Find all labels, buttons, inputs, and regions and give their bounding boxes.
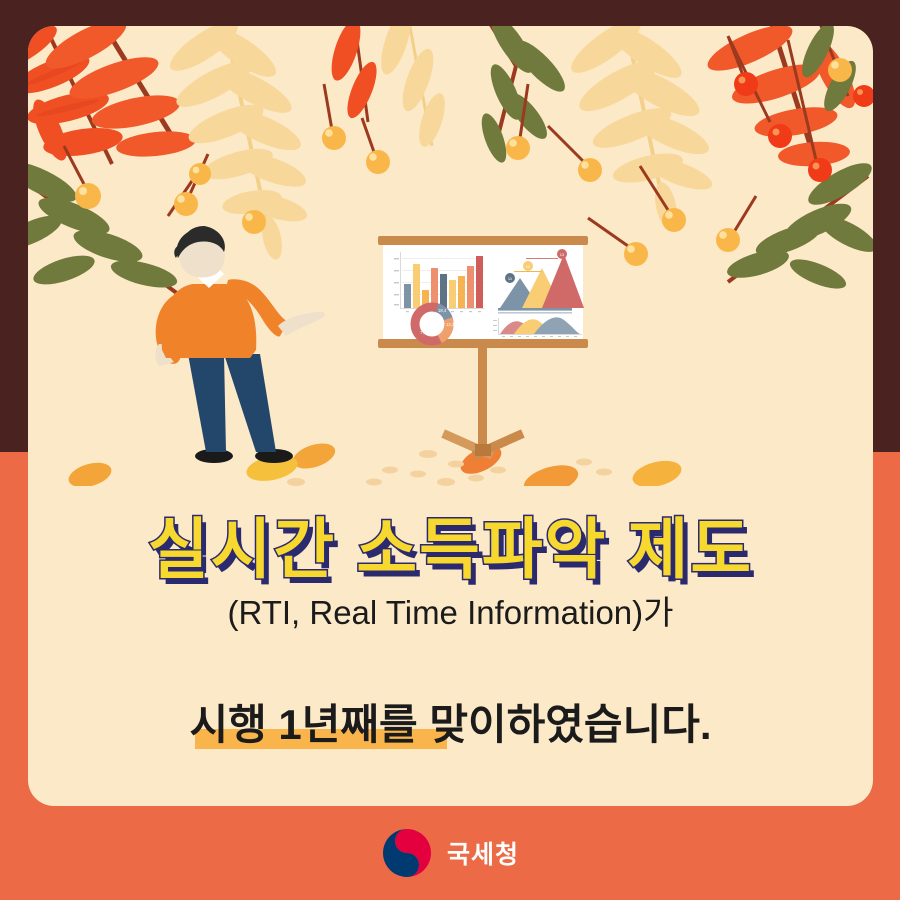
svg-text:13: 13	[560, 252, 565, 257]
content-card: 11 12 13 7,5 18,4 12,3	[28, 26, 873, 806]
svg-text:18,4: 18,4	[438, 308, 447, 313]
korean-government-taegeuk-logo	[381, 827, 433, 879]
whiteboard-easel-stand	[441, 334, 524, 460]
footer-bar: 국세청	[0, 806, 900, 900]
whiteboard: 11 12 13 7,5 18,4 12,3	[378, 236, 588, 348]
presentation-illustration: 11 12 13 7,5 18,4 12,3	[28, 226, 873, 486]
presenter-person	[155, 226, 325, 463]
ground-leaves	[66, 439, 684, 486]
scene-svg: 11 12 13 7,5 18,4 12,3	[28, 226, 873, 486]
page-title: 실시간 소득파악 제도	[28, 496, 873, 592]
secondary-message: 시행 1년째를 맞이하였습니다.	[189, 691, 711, 752]
svg-text:12: 12	[526, 264, 531, 269]
organization-name: 국세청	[447, 835, 519, 871]
leaf-branch-centre-yellow	[375, 26, 450, 150]
poster-root: 11 12 13 7,5 18,4 12,3	[0, 0, 900, 900]
secondary-message-wrapper: 시행 1년째를 맞이하였습니다.	[28, 691, 873, 752]
svg-text:12,3: 12,3	[446, 322, 455, 327]
secondary-message-text: 시행 1년째를 맞이하였습니다.	[189, 701, 711, 748]
subtitle-rti: (RTI, Real Time Information)가	[28, 586, 873, 634]
leaf-branch-centre-orange	[326, 26, 383, 122]
leaf-branch-yellow-fern-2	[564, 26, 715, 232]
svg-text:7,5: 7,5	[420, 330, 427, 335]
taegeuk-icon	[381, 827, 433, 879]
